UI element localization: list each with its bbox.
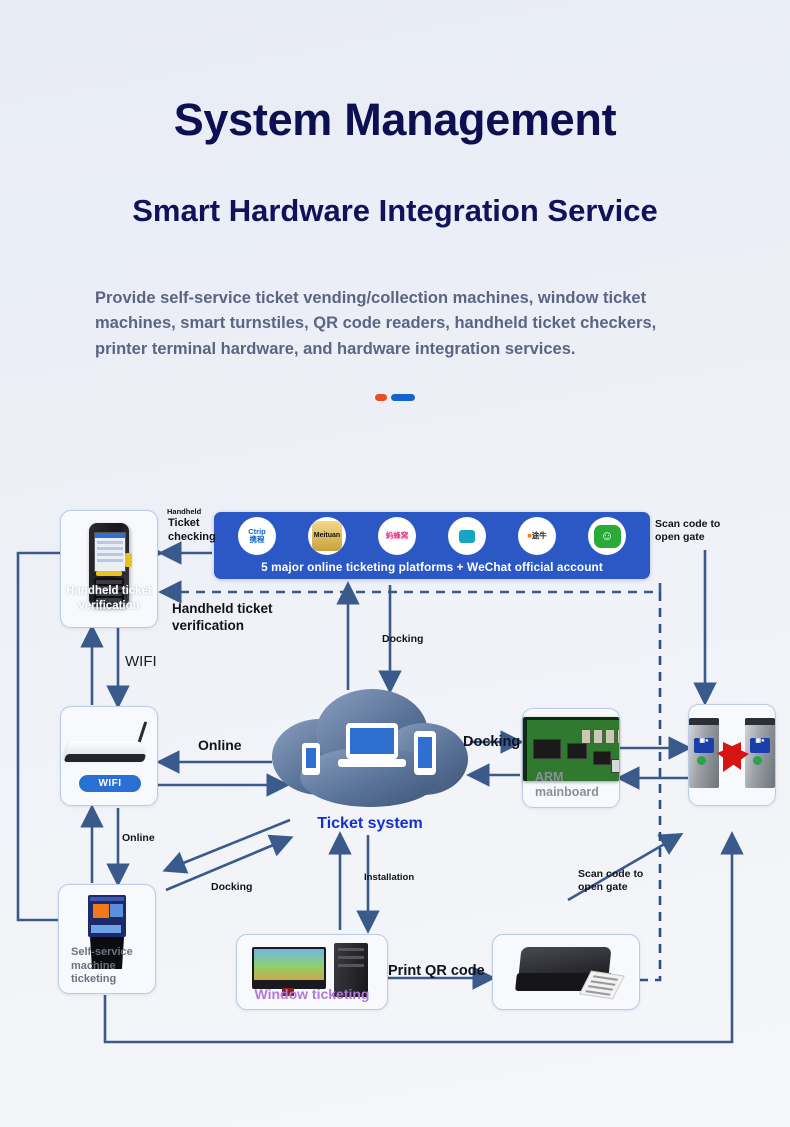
node-cloud-label: Ticket system bbox=[272, 815, 468, 833]
node-window-label: Window ticketing bbox=[237, 986, 387, 1004]
label-scan-open-gate-top: Scan code to open gate bbox=[655, 518, 720, 544]
label-docking-arm: Docking bbox=[463, 733, 520, 751]
page-description: Provide self-service ticket vending/coll… bbox=[95, 286, 695, 363]
node-wifi-router[interactable]: WIFI bbox=[60, 706, 158, 806]
cloud-icon bbox=[272, 685, 468, 810]
ctrip-logo[interactable]: Ctrip携程 bbox=[238, 517, 276, 555]
tongcheng-logo[interactable] bbox=[448, 517, 486, 555]
node-handheld-terminal[interactable]: Handheld ticket verification bbox=[60, 510, 158, 628]
node-ticket-system-cloud[interactable] bbox=[272, 685, 468, 810]
node-printer[interactable] bbox=[492, 934, 640, 1010]
wifi-badge: WIFI bbox=[79, 775, 141, 792]
page-title: System Management bbox=[0, 96, 790, 143]
tuniu-logo[interactable]: ■途牛 bbox=[518, 517, 556, 555]
label-handheld-checking-small: Handheld bbox=[167, 507, 201, 516]
printer-icon bbox=[493, 947, 639, 999]
label-handheld-verification: Handheld ticket verification bbox=[172, 601, 273, 635]
label-docking-top: Docking bbox=[382, 633, 423, 646]
page-root: System Management Smart Hardware Integra… bbox=[0, 0, 790, 1127]
node-arm-label: ARM mainboard bbox=[523, 770, 599, 801]
platform-logo-row: Ctrip携程 Meituan 蚂蜂窝 ■途牛 ☺ bbox=[214, 512, 650, 555]
platform-bar-caption: 5 major online ticketing platforms + WeC… bbox=[214, 560, 650, 574]
divider-dot-blue bbox=[391, 394, 415, 401]
label-print-qr-code: Print QR code bbox=[388, 962, 485, 980]
node-handheld-label: Handheld ticket verification bbox=[61, 584, 157, 613]
divider-dots bbox=[0, 388, 790, 406]
label-online-kiosk: Online bbox=[122, 832, 155, 845]
label-scan-open-gate-bottom: Scan code to open gate bbox=[578, 868, 643, 894]
label-handheld-checking: Ticket checking bbox=[168, 517, 216, 545]
turnstile-icon: ▣● ▣● bbox=[689, 718, 775, 794]
wechat-logo[interactable]: ☺ bbox=[588, 517, 626, 555]
label-installation: Installation bbox=[364, 872, 414, 884]
node-turnstile-gate[interactable]: ▣● ▣● bbox=[688, 704, 776, 806]
mafengwo-logo[interactable]: 蚂蜂窝 bbox=[378, 517, 416, 555]
meituan-logo[interactable]: Meituan bbox=[308, 517, 346, 555]
node-arm-mainboard[interactable]: ARM mainboard bbox=[522, 708, 620, 808]
divider-dot-orange bbox=[375, 394, 387, 401]
label-wifi-link: WIFI bbox=[125, 653, 157, 672]
node-window-ticketing[interactable]: Window ticketing bbox=[236, 934, 388, 1010]
page-subtitle: Smart Hardware Integration Service bbox=[0, 195, 790, 228]
online-platform-bar[interactable]: Ctrip携程 Meituan 蚂蜂窝 ■途牛 ☺ 5 major online… bbox=[214, 512, 650, 579]
architecture-diagram: Ctrip携程 Meituan 蚂蜂窝 ■途牛 ☺ 5 major online… bbox=[0, 490, 790, 1110]
label-docking-kiosk: Docking bbox=[211, 881, 252, 894]
label-online-cloud: Online bbox=[198, 737, 242, 755]
node-kiosk-label: Self-service machine ticketing bbox=[59, 946, 133, 987]
router-icon bbox=[61, 725, 157, 769]
page-header: System Management Smart Hardware Integra… bbox=[0, 0, 790, 406]
node-self-service-kiosk[interactable]: Self-service machine ticketing bbox=[58, 884, 156, 994]
